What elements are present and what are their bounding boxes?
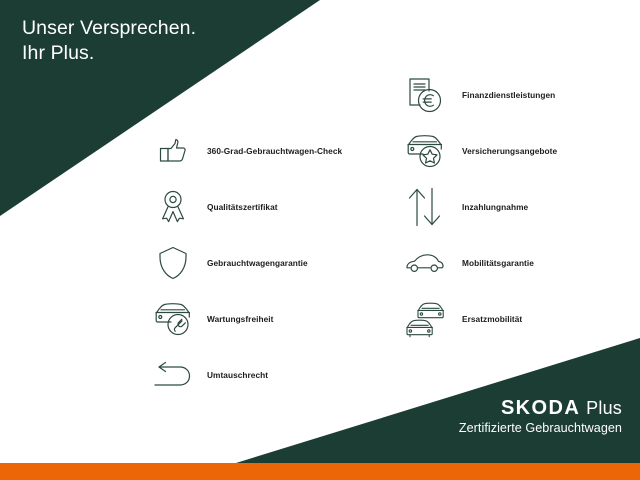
feature-list-right: Finanzdienstleistungen Versicherungsange… [398,68,557,348]
feature-label: Wartungsfreiheit [200,314,273,324]
feature-label: Gebrauchtwagengarantie [200,258,308,268]
promo-banner: Unser Versprechen.Ihr Plus. 360-Grad-Geb… [0,0,640,480]
car-wrench-icon [146,293,200,345]
up-down-arrows-icon [398,181,452,233]
feature-item: Inzahlungnahme [398,180,557,234]
feature-item: Mobilitätsgarantie [398,236,557,290]
feature-item: Gebrauchtwagengarantie [146,236,342,290]
feature-label: Umtauschrecht [200,370,268,380]
feature-item: Finanzdienstleistungen [398,68,557,122]
document-euro-icon [398,69,452,121]
feature-item: Ersatzmobilität [398,292,557,346]
rosette-certificate-icon [146,181,200,233]
feature-item: Wartungsfreiheit [146,292,342,346]
skoda-plus-logo: SKODA Plus Zertifizierte Gebrauchtwagen [459,397,622,435]
logo-wordmark-row: SKODA Plus [459,397,622,420]
skoda-wordmark: SKODA [501,397,580,420]
feature-label: Finanzdienstleistungen [452,90,555,100]
feature-label: 360-Grad-Gebrauchtwagen-Check [200,146,342,156]
feature-label: Inzahlungnahme [452,202,528,212]
plus-wordmark: Plus [586,398,622,419]
feature-item: Versicherungsangebote [398,124,557,178]
feature-label: Qualitätszertifikat [200,202,278,212]
feature-item: 360-Grad-Gebrauchtwagen-Check [146,124,342,178]
orange-accent-bar [0,463,640,480]
two-cars-icon [398,293,452,345]
headline-line-2: Ihr Plus. [22,42,94,64]
car-star-icon [398,125,452,177]
feature-label: Mobilitätsgarantie [452,258,534,268]
car-side-icon [398,237,452,289]
return-arrow-icon [146,349,200,401]
shield-icon [146,237,200,289]
thumbs-up-icon [146,125,200,177]
feature-item: Umtauschrecht [146,348,342,402]
feature-list-left: 360-Grad-Gebrauchtwagen-Check Qualitätsz… [146,124,342,404]
headline: Unser Versprechen.Ihr Plus. [22,16,196,66]
feature-item: Qualitätszertifikat [146,180,342,234]
feature-label: Ersatzmobilität [452,314,522,324]
logo-tagline: Zertifizierte Gebrauchtwagen [459,421,622,435]
feature-label: Versicherungsangebote [452,146,557,156]
headline-line-1: Unser Versprechen. [22,17,196,39]
